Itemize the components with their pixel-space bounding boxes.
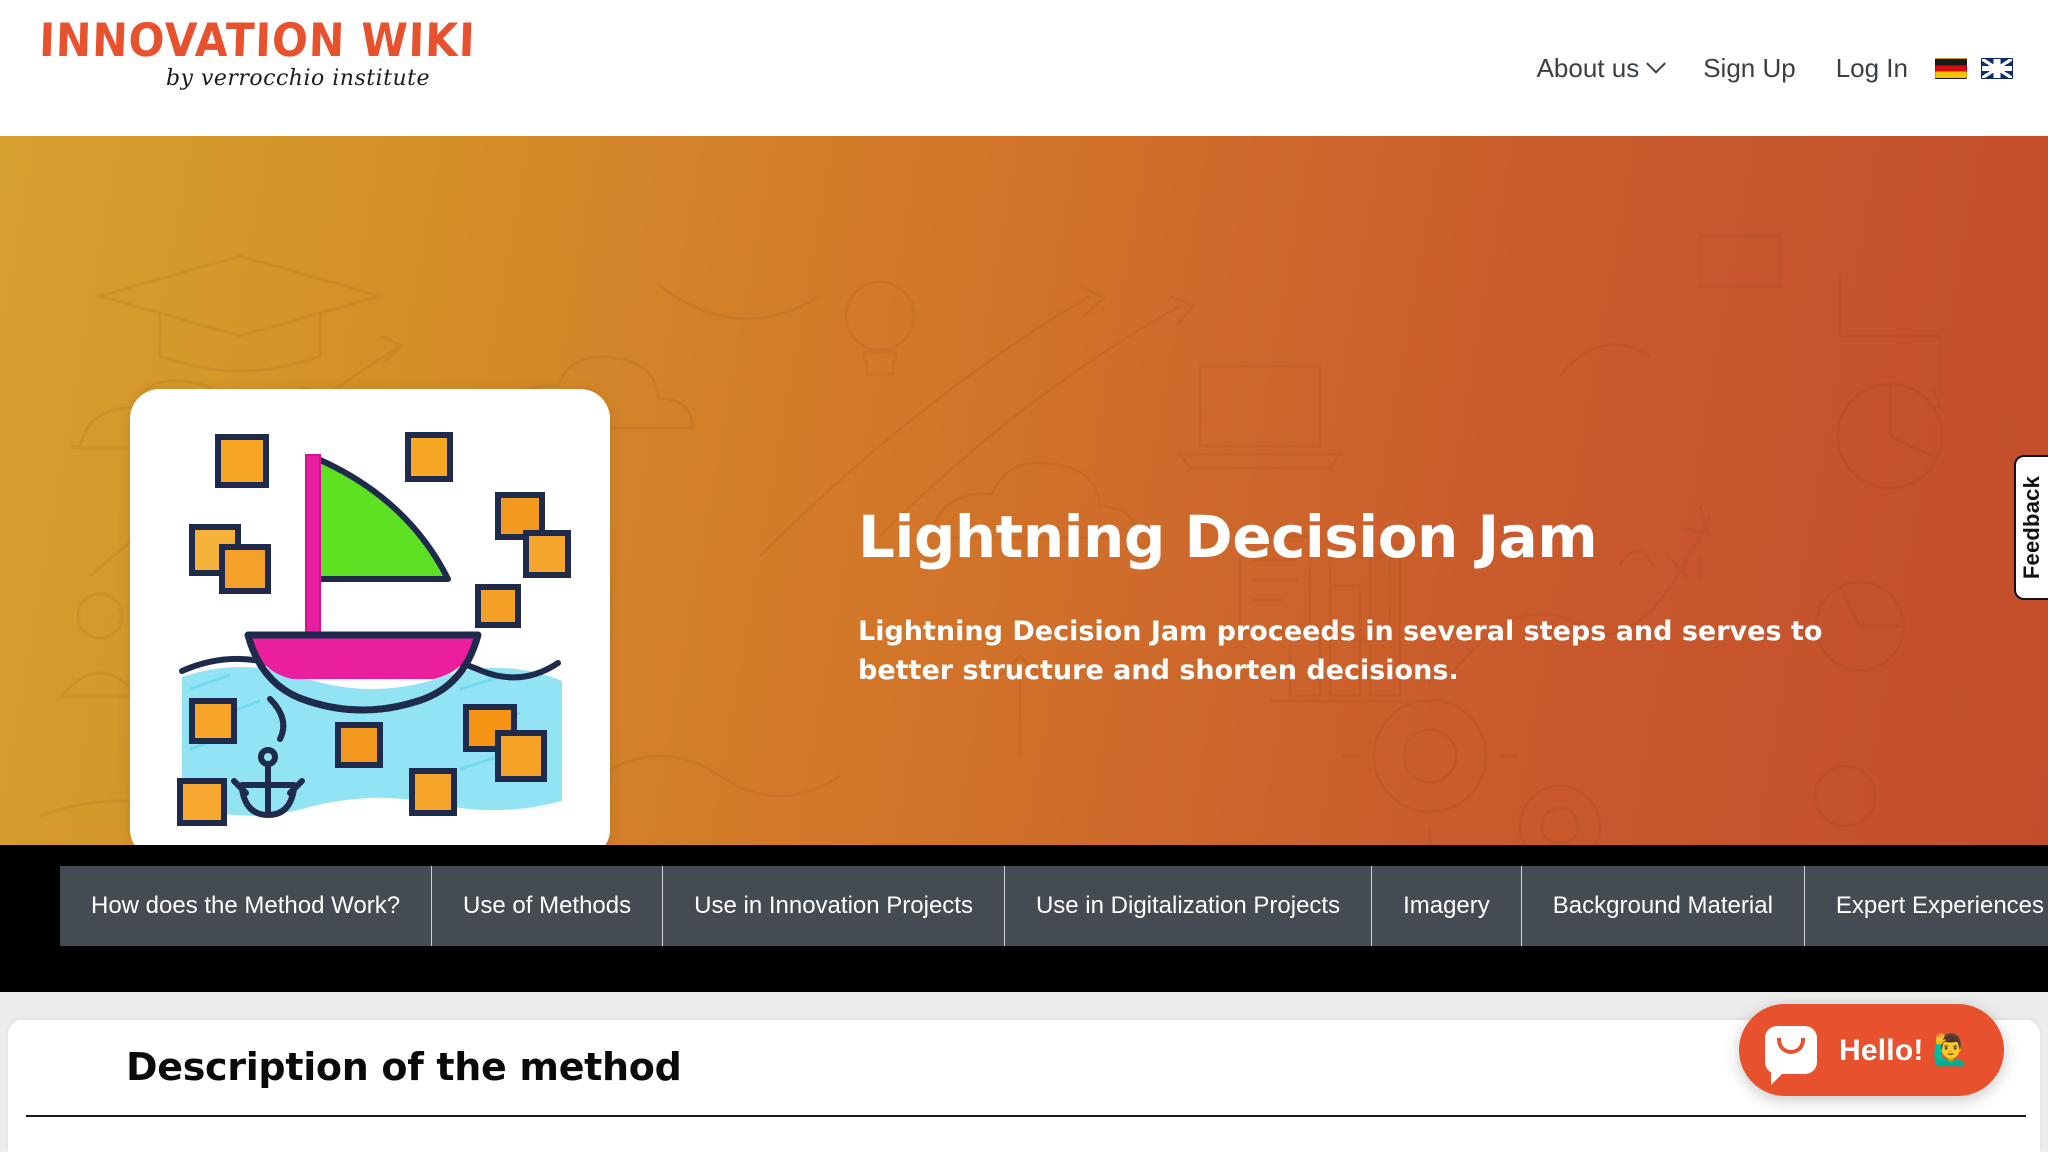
tab-how-does-the-method-work[interactable]: How does the Method Work? (60, 866, 432, 946)
section-heading: Description of the method (126, 1045, 682, 1089)
content-card: Description of the method (8, 1020, 2040, 1152)
uk-flag-icon[interactable] (1981, 58, 2013, 79)
tab-use-in-digitalization-projects[interactable]: Use in Digitalization Projects (1005, 866, 1372, 946)
chevron-down-icon (1646, 54, 1666, 74)
tab-use-in-innovation-projects[interactable]: Use in Innovation Projects (663, 866, 1005, 946)
feedback-tab[interactable]: Feedback (2014, 455, 2048, 600)
chat-bubble-icon (1765, 1026, 1817, 1074)
hero-image-card (130, 389, 610, 845)
nav-label-sign-up: Sign Up (1703, 53, 1796, 84)
nav-label-about-us: About us (1537, 53, 1640, 84)
tab-imagery[interactable]: Imagery (1372, 866, 1522, 946)
tab-background-material[interactable]: Background Material (1522, 866, 1805, 946)
nav-item-log-in[interactable]: Log In (1816, 53, 1928, 84)
chat-widget-button[interactable]: Hello! 🙋‍♂️ (1739, 1004, 2004, 1096)
chat-greeting-label: Hello! 🙋‍♂️ (1839, 1033, 1970, 1068)
method-tabs: How does the Method Work? Use of Methods… (60, 866, 2048, 946)
nav-item-about-us[interactable]: About us (1517, 53, 1684, 84)
section-divider (26, 1115, 2026, 1117)
tab-expert-experiences[interactable]: Expert Experiences (1805, 866, 2048, 946)
site-header: INNOVATION WIKI by verrocchio institute … (0, 0, 2048, 136)
sailboat-sketch-icon (130, 389, 610, 845)
hero-banner: Lightning Decision Jam Lightning Decisio… (0, 136, 2048, 845)
tab-use-of-methods[interactable]: Use of Methods (432, 866, 663, 946)
page-subtitle: Lightning Decision Jam proceeds in sever… (858, 612, 1833, 690)
nav-label-log-in: Log In (1836, 53, 1908, 84)
chat-smile-icon (1777, 1038, 1805, 1054)
page-title: Lightning Decision Jam (858, 506, 1918, 570)
nav-item-sign-up[interactable]: Sign Up (1683, 53, 1816, 84)
site-logo[interactable]: INNOVATION WIKI by verrocchio institute (40, 16, 440, 116)
logo-wordmark: INNOVATION WIKI (38, 16, 408, 64)
main-navigation: About us Sign Up Log In (1517, 0, 2020, 136)
hero-text-block: Lightning Decision Jam Lightning Decisio… (858, 506, 1918, 690)
method-tabstrip: How does the Method Work? Use of Methods… (0, 845, 2048, 992)
logo-tagline: by verrocchio institute (40, 66, 430, 91)
feedback-label: Feedback (2019, 476, 2045, 579)
german-flag-icon[interactable] (1935, 58, 1967, 79)
